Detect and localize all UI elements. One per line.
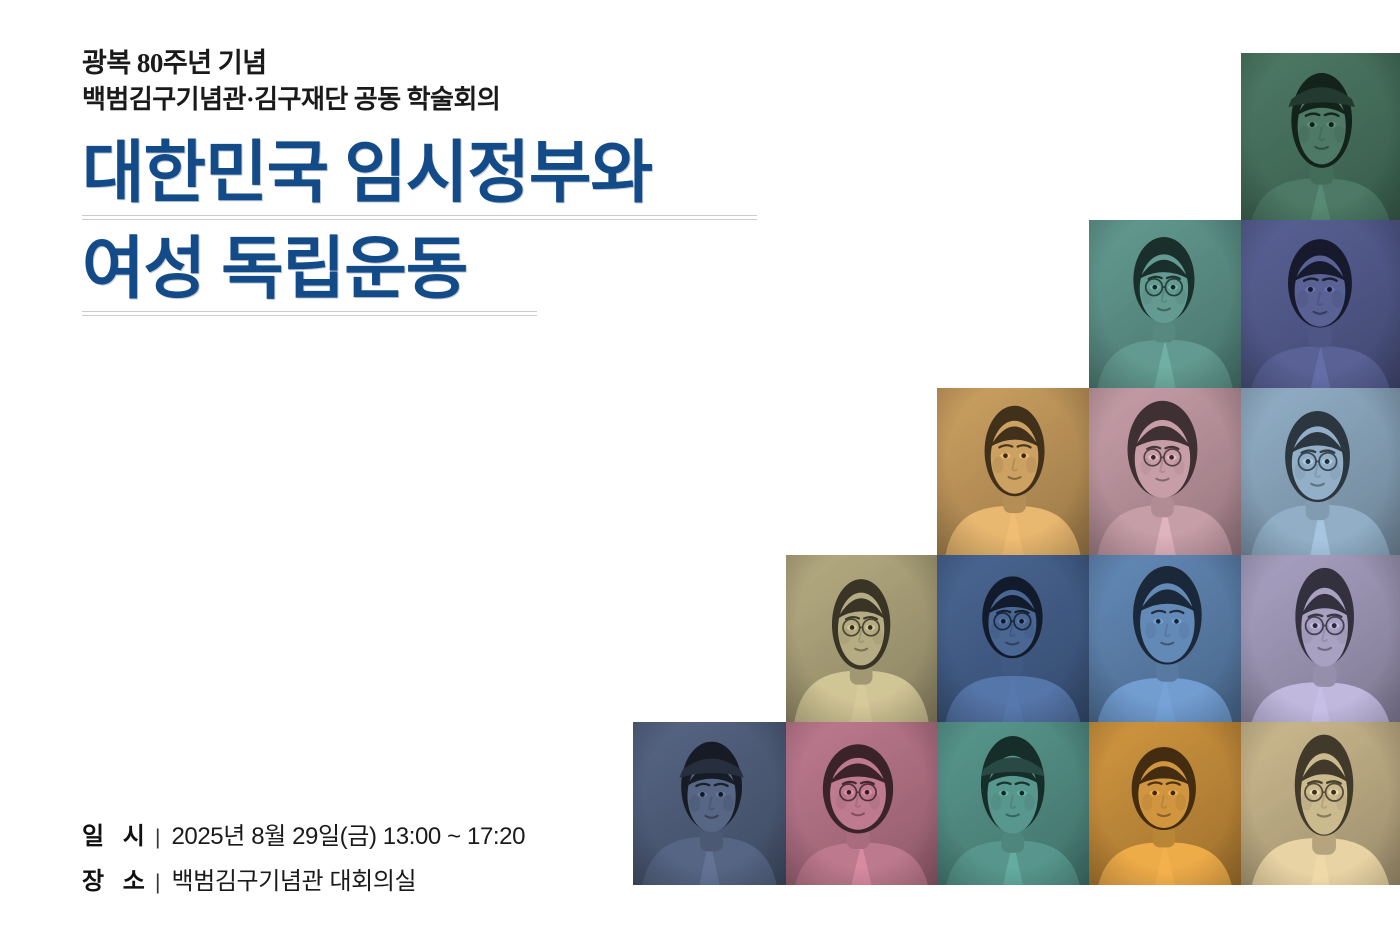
info-value-datetime: 2025년 8월 29일(금) 13:00 ~ 17:20 — [171, 816, 525, 851]
portrait-tile-r1c5 — [1241, 53, 1400, 220]
duotone-highlight-overlay — [1241, 53, 1400, 220]
portrait-tile-r4c4 — [1089, 555, 1241, 722]
portrait-tile-r5c2 — [786, 722, 937, 885]
portrait-tile-r5c1 — [633, 722, 786, 885]
info-row-venue: 장 소 | 백범김구기념관 대회의실 — [82, 861, 525, 896]
portrait-tile-r4c3 — [937, 555, 1089, 722]
info-label-venue: 장 소 — [82, 861, 152, 896]
portrait-tile-r2c4 — [1089, 220, 1241, 388]
duotone-highlight-overlay — [1089, 220, 1241, 388]
header-text-block: 광복 80주년 기념 백범김구기념관·김구재단 공동 학술회의 대한민국 임시정… — [82, 44, 782, 329]
title-line-1: 대한민국 임시정부와 — [82, 137, 782, 209]
duotone-highlight-overlay — [1241, 722, 1400, 885]
duotone-highlight-overlay — [786, 555, 937, 722]
title-line-2: 여성 독립운동 — [82, 233, 782, 305]
duotone-highlight-overlay — [1241, 555, 1400, 722]
title-rule-1 — [82, 215, 782, 221]
portrait-tile-r5c5 — [1241, 722, 1400, 885]
poster-title: 대한민국 임시정부와 여성 독립운동 — [82, 137, 782, 317]
duotone-highlight-overlay — [1241, 220, 1400, 388]
poster-canvas: 광복 80주년 기념 백범김구기념관·김구재단 공동 학술회의 대한민국 임시정… — [0, 0, 1400, 932]
info-separator-venue: | — [155, 871, 160, 895]
portrait-tile-r3c3 — [937, 388, 1089, 555]
duotone-highlight-overlay — [1089, 555, 1241, 722]
info-value-venue: 백범김구기념관 대회의실 — [171, 861, 416, 896]
duotone-highlight-overlay — [937, 388, 1089, 555]
portrait-tile-r2c5 — [1241, 220, 1400, 388]
duotone-highlight-overlay — [937, 555, 1089, 722]
duotone-highlight-overlay — [1089, 388, 1241, 555]
duotone-highlight-overlay — [633, 722, 786, 885]
portrait-tile-r4c2 — [786, 555, 937, 722]
eyebrow-line-2: 백범김구기념관·김구재단 공동 학술회의 — [82, 82, 782, 119]
duotone-highlight-overlay — [1241, 388, 1400, 555]
duotone-highlight-overlay — [786, 722, 937, 885]
eyebrow-line-1: 광복 80주년 기념 — [82, 44, 782, 82]
info-separator-datetime: | — [155, 826, 160, 850]
portrait-tile-r3c4 — [1089, 388, 1241, 555]
portrait-tile-r5c4 — [1089, 722, 1241, 885]
event-info: 일 시 | 2025년 8월 29일(금) 13:00 ~ 17:20 장 소 … — [82, 816, 525, 906]
duotone-highlight-overlay — [1089, 722, 1241, 885]
info-label-datetime: 일 시 — [82, 816, 152, 851]
duotone-highlight-overlay — [937, 722, 1089, 885]
portrait-tile-r5c3 — [937, 722, 1089, 885]
title-rule-2 — [82, 311, 782, 317]
portrait-tile-r4c5 — [1241, 555, 1400, 722]
info-row-datetime: 일 시 | 2025년 8월 29일(금) 13:00 ~ 17:20 — [82, 816, 525, 851]
portrait-tile-r3c5 — [1241, 388, 1400, 555]
